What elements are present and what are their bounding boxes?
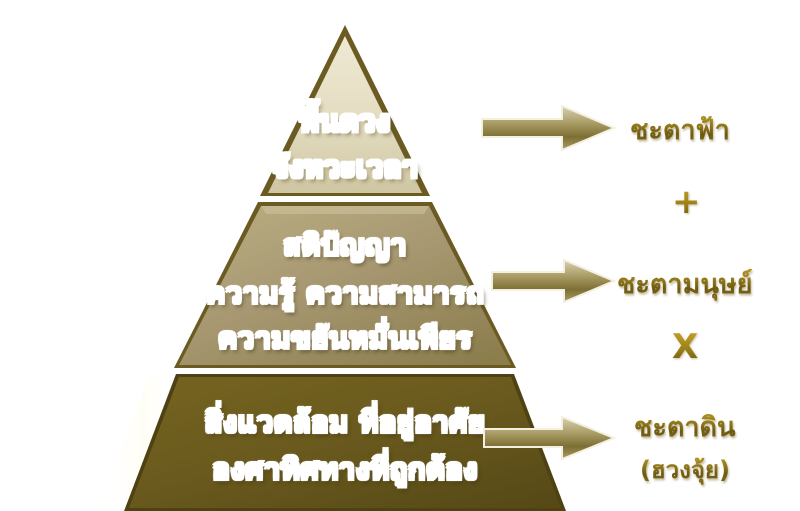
arrow-right-icon-heaven: [478, 104, 618, 152]
arrow-right-icon-human: [488, 258, 618, 304]
pyramid-tier-human: [174, 202, 516, 368]
times-operator: X: [672, 330, 698, 364]
arrow-right-icon-earth: [480, 415, 618, 461]
label-human-fate: ชะตามนุษย์: [617, 262, 752, 305]
label-heaven-fate: ชะตาฟ้า: [630, 108, 730, 151]
pyramid-tier-heaven: [260, 25, 430, 196]
diagram-canvas: พื้นดวง จังหวะเวลา สติปัญญา ความรู้ ความ…: [0, 0, 800, 511]
label-earth-fate-sub: (ฮวงจุ้ย): [640, 450, 730, 489]
plus-operator: +: [672, 185, 701, 219]
label-earth-fate: ชะตาดิน: [634, 405, 736, 448]
